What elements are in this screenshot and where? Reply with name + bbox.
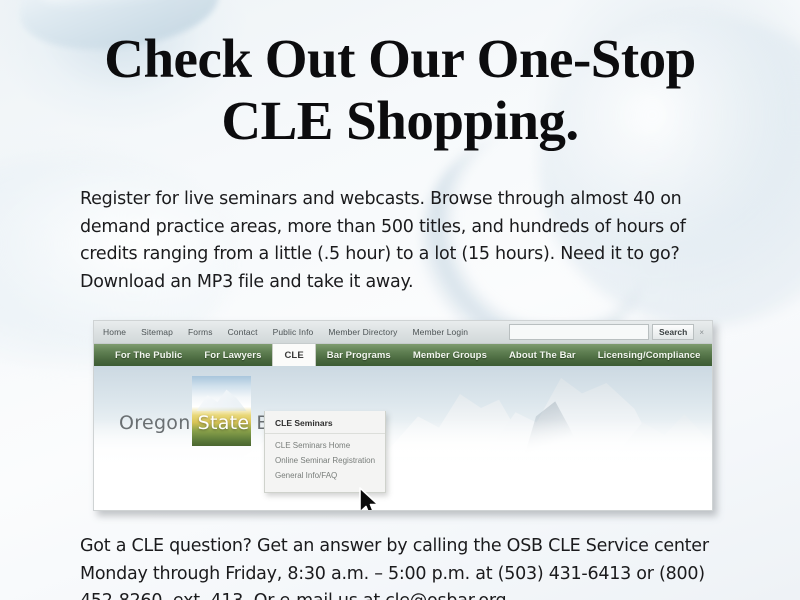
dropdown-title: CLE Seminars (265, 418, 385, 434)
close-icon[interactable]: × (697, 328, 706, 337)
dropdown-item-general-info-faq[interactable]: General Info/FAQ (265, 468, 385, 483)
headline-line-2: CLE Shopping. (0, 90, 800, 152)
page-headline: Check Out Our One-Stop CLE Shopping. (0, 28, 800, 152)
nav-item-for-the-public[interactable]: For The Public (104, 344, 193, 366)
cle-dropdown-menu: CLE Seminars CLE Seminars Home Online Se… (264, 411, 386, 493)
site-utility-nav: Home Sitemap Forms Contact Public Info M… (103, 327, 468, 337)
nav-item-cle[interactable]: CLE (272, 344, 315, 366)
utility-link-member-login[interactable]: Member Login (413, 327, 469, 337)
website-screenshot: Home Sitemap Forms Contact Public Info M… (93, 320, 713, 511)
utility-link-public-info[interactable]: Public Info (273, 327, 314, 337)
utility-link-forms[interactable]: Forms (188, 327, 213, 337)
logo-word-state: State (194, 412, 254, 434)
logo-word-oregon: Oregon (116, 412, 194, 434)
headline-line-1: Check Out Our One-Stop (0, 28, 800, 90)
contact-paragraph: Got a CLE question? Get an answer by cal… (80, 533, 745, 600)
site-main-nav: For The Public For Lawyers CLE Bar Progr… (94, 344, 712, 366)
site-search-area: Search × (509, 324, 706, 340)
dropdown-item-cle-seminars-home[interactable]: CLE Seminars Home (265, 438, 385, 453)
search-input[interactable] (509, 324, 649, 340)
nav-item-licensing-compliance[interactable]: Licensing/Compliance (587, 344, 712, 366)
background-mouse-highlight (38, 0, 192, 15)
nav-item-about-the-bar[interactable]: About The Bar (498, 344, 587, 366)
utility-link-contact[interactable]: Contact (228, 327, 258, 337)
page-root: Check Out Our One-Stop CLE Shopping. Reg… (0, 0, 800, 600)
search-button[interactable]: Search (652, 324, 694, 340)
dropdown-item-online-seminar-registration[interactable]: Online Seminar Registration (265, 453, 385, 468)
utility-link-member-directory[interactable]: Member Directory (328, 327, 397, 337)
site-utility-bar: Home Sitemap Forms Contact Public Info M… (94, 321, 712, 344)
site-hero-banner: Oregon State Bar CLE Seminars CLE Semina… (94, 366, 712, 511)
nav-item-for-lawyers[interactable]: For Lawyers (193, 344, 272, 366)
logo-photo-panel (192, 376, 252, 446)
utility-link-home[interactable]: Home (103, 327, 126, 337)
intro-paragraph: Register for live seminars and webcasts.… (80, 186, 730, 296)
utility-link-sitemap[interactable]: Sitemap (141, 327, 173, 337)
logo-word-state-text: State (198, 412, 250, 434)
nav-item-member-groups[interactable]: Member Groups (402, 344, 498, 366)
nav-item-bar-programs[interactable]: Bar Programs (316, 344, 402, 366)
